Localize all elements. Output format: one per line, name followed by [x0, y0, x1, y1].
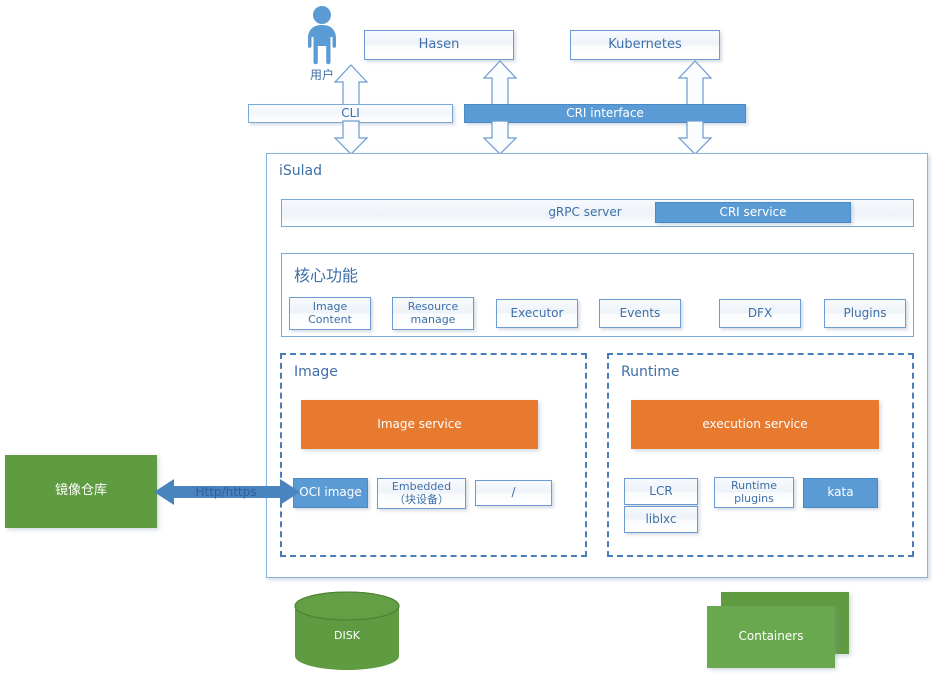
core-module-line1: Image: [313, 301, 347, 314]
grpc-server-label: gRPC server: [520, 199, 650, 227]
kubernetes-box[interactable]: Kubernetes: [570, 30, 720, 60]
image-backend-embedded[interactable]: Embedded （块设备）: [377, 478, 466, 509]
image-service-box[interactable]: Image service: [301, 400, 538, 449]
core-module-plugins[interactable]: Plugins: [824, 299, 906, 328]
containers-box-front[interactable]: Containers: [707, 606, 835, 668]
core-module-line2: manage: [411, 314, 456, 327]
isulad-title: iSulad: [279, 163, 322, 179]
arrow-down-cri-right: [676, 121, 714, 155]
arrow-up-kubernetes: [676, 60, 714, 106]
diagram-canvas: 用户 Hasen Kubernetes CLI CRI interface: [0, 0, 939, 673]
runtime-backend-kata[interactable]: kata: [803, 478, 878, 508]
hasen-box[interactable]: Hasen: [364, 30, 514, 60]
image-backend-oci-image[interactable]: OCI image: [293, 478, 368, 508]
core-module-dfx[interactable]: DFX: [719, 299, 801, 328]
user-actor: [296, 4, 348, 66]
core-module-executor[interactable]: Executor: [496, 299, 578, 328]
http-https-label: Http/https: [186, 485, 266, 499]
image-backend-line2: （块设备）: [394, 494, 449, 507]
person-icon: [296, 4, 348, 66]
image-section-title: Image: [294, 364, 338, 380]
runtime-backend-line2: plugins: [734, 493, 774, 506]
image-section-panel: Image: [280, 353, 587, 557]
image-backend-line1: Embedded: [392, 481, 451, 494]
image-backend-slash[interactable]: /: [475, 480, 552, 506]
core-functions-title: 核心功能: [294, 262, 358, 286]
core-module-events[interactable]: Events: [599, 299, 681, 328]
arrow-down-cli: [332, 121, 370, 155]
runtime-backend-lcr[interactable]: LCR: [624, 478, 698, 505]
core-module-image-content[interactable]: Image Content: [289, 297, 371, 330]
core-functions-panel: 核心功能: [281, 253, 914, 337]
runtime-backend-line1: Runtime: [731, 480, 777, 493]
disk-label: DISK: [293, 628, 401, 644]
execution-service-box[interactable]: execution service: [631, 400, 879, 449]
runtime-section-title: Runtime: [621, 364, 679, 380]
image-registry-box[interactable]: 镜像仓库: [5, 455, 157, 528]
core-module-resource-manage[interactable]: Resource manage: [392, 297, 474, 330]
cri-service-box[interactable]: CRI service: [655, 202, 851, 223]
arrow-up-hasen: [481, 60, 519, 106]
arrow-down-cri-left: [481, 121, 519, 155]
runtime-backend-runtime-plugins[interactable]: Runtime plugins: [714, 477, 794, 508]
core-module-line2: Content: [308, 314, 352, 327]
runtime-backend-liblxc[interactable]: liblxc: [624, 506, 698, 533]
arrow-up-user: [332, 64, 370, 106]
core-module-line1: Resource: [408, 301, 458, 314]
